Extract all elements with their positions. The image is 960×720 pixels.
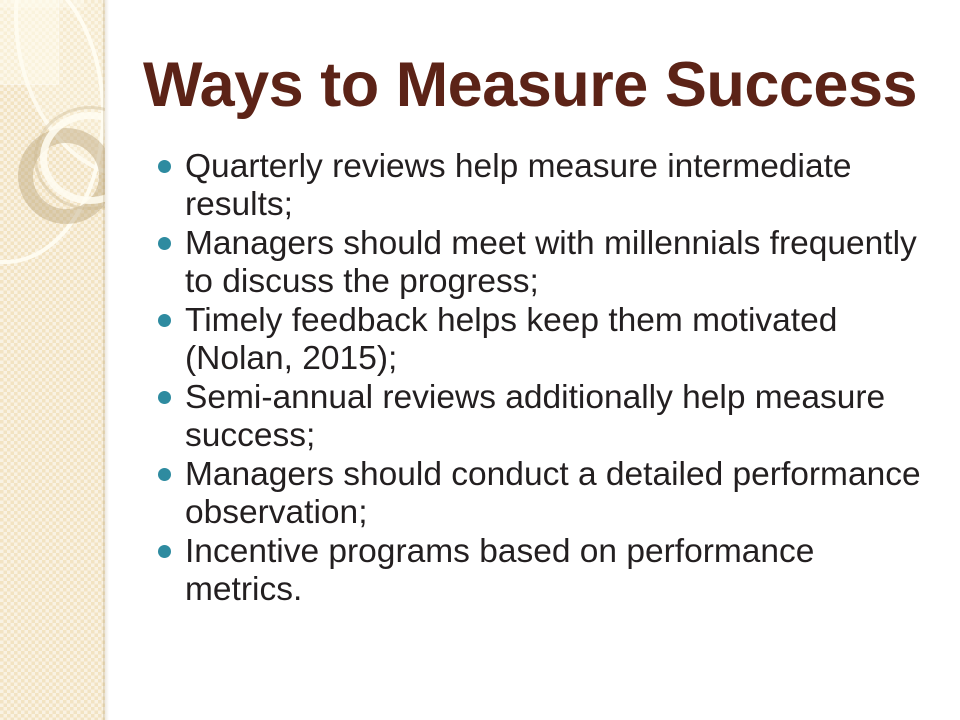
- slide-title: Ways to Measure Success: [130, 52, 930, 118]
- bullet-dot-icon: [158, 237, 171, 250]
- sidebar-edge-shadow: [103, 0, 109, 720]
- bullet-dot-icon: [158, 468, 171, 481]
- list-item: Semi-annual reviews additionally help me…: [152, 379, 927, 455]
- list-item: Managers should conduct a detailed perfo…: [152, 456, 927, 532]
- list-item: Timely feedback helps keep them motivate…: [152, 302, 927, 378]
- list-item-text: Managers should conduct a detailed perfo…: [185, 456, 927, 532]
- bullet-dot-icon: [158, 545, 171, 558]
- bullet-dot-icon: [158, 314, 171, 327]
- list-item-text: Timely feedback helps keep them motivate…: [185, 302, 927, 378]
- list-item-text: Semi-annual reviews additionally help me…: [185, 379, 927, 455]
- list-item-text: Incentive programs based on performance …: [185, 533, 927, 609]
- list-item-text: Managers should meet with millennials fr…: [185, 225, 927, 301]
- bullet-list: Quarterly reviews help measure intermedi…: [152, 148, 927, 610]
- presentation-slide: Ways to Measure Success Quarterly review…: [0, 0, 960, 720]
- decorative-sidebar: [0, 0, 105, 720]
- list-item: Quarterly reviews help measure intermedi…: [152, 148, 927, 224]
- list-item: Incentive programs based on performance …: [152, 533, 927, 609]
- bullet-dot-icon: [158, 160, 171, 173]
- list-item: Managers should meet with millennials fr…: [152, 225, 927, 301]
- bullet-dot-icon: [158, 391, 171, 404]
- list-item-text: Quarterly reviews help measure intermedi…: [185, 148, 927, 224]
